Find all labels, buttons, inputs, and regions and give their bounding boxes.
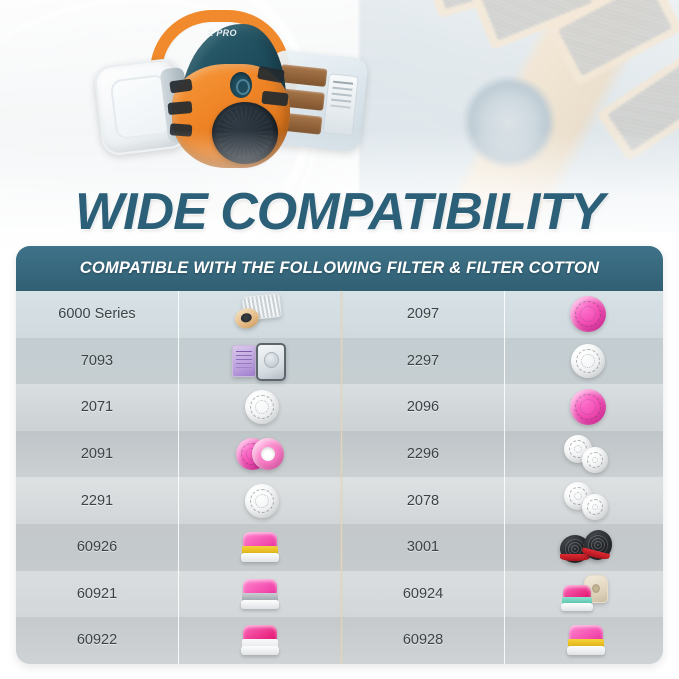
icon-pink-disc-pair [232, 434, 288, 474]
icon-white-disc-pair [558, 481, 614, 521]
cell-right-image [505, 477, 663, 524]
icon-white-disc-filter [232, 387, 288, 427]
table-body: 6000 Series20977093229720712096209122962… [16, 291, 663, 664]
icon-pink-cartridge-with-tag [558, 574, 614, 614]
compatibility-table: COMPATIBLE WITH THE FOLLOWING FILTER & F… [16, 246, 663, 664]
cell-left-label: 2091 [16, 446, 178, 462]
table-header-text: COMPATIBLE WITH THE FOLLOWING FILTER & F… [80, 259, 599, 278]
icon-pink-disc-filter [558, 387, 614, 427]
cell-right-image [505, 384, 663, 431]
table-row: 20712096 [16, 384, 663, 431]
brand-logo-text: X PRO [72, 28, 372, 38]
cell-right-image [505, 571, 663, 618]
infographic-page: X PRO WIDE COMPATIBILITY COMPATIBLE WITH… [0, 0, 679, 679]
cell-left-image [179, 571, 341, 618]
cell-right-image [505, 524, 663, 571]
cell-right-label: 2296 [342, 446, 504, 462]
cell-left-label: 6000 Series [16, 306, 178, 322]
cell-left-label: 60926 [16, 539, 178, 555]
table-row: 6000 Series2097 [16, 291, 663, 338]
cell-right-image [505, 338, 663, 385]
page-title: WIDE COMPATIBILITY [0, 182, 679, 242]
table-row: 6092260928 [16, 617, 663, 664]
icon-pink-yellow-cartridge [558, 620, 614, 660]
cell-left-label: 2071 [16, 399, 178, 415]
cell-left-image [179, 617, 341, 664]
table-row: 20912296 [16, 431, 663, 478]
icon-black-red-round-cartridge-pair [558, 527, 614, 567]
cell-right-image [505, 617, 663, 664]
cell-left-image [179, 338, 341, 385]
icon-pink-white-cartridge [232, 620, 288, 660]
icon-pink-gray-cartridge [232, 574, 288, 614]
cell-right-image [505, 431, 663, 478]
cell-right-label: 60928 [342, 632, 504, 648]
table-row: 6092160924 [16, 571, 663, 618]
mask-vent-bar [168, 101, 193, 115]
cell-right-label: 3001 [342, 539, 504, 555]
cell-left-image [179, 477, 341, 524]
cell-left-image [179, 431, 341, 478]
cell-right-label: 2078 [342, 493, 504, 509]
table-row: 609263001 [16, 524, 663, 571]
icon-purple-box-and-cassette [232, 341, 288, 381]
cell-right-label: 2096 [342, 399, 504, 415]
table-header-bar: COMPATIBLE WITH THE FOLLOWING FILTER & F… [16, 246, 663, 291]
mask-vent-bar [261, 91, 288, 107]
icon-beige-striped-cartridge [232, 294, 288, 334]
cell-right-label: 2297 [342, 353, 504, 369]
icon-white-disc-pair [558, 434, 614, 474]
icon-pink-yellow-cartridge [232, 527, 288, 567]
cell-right-label: 60924 [342, 586, 504, 602]
mask-exhale-valve [230, 72, 252, 98]
cell-left-image [179, 524, 341, 571]
cell-right-label: 2097 [342, 306, 504, 322]
cell-left-label: 60922 [16, 632, 178, 648]
cell-left-label: 2291 [16, 493, 178, 509]
cell-right-image [505, 291, 663, 338]
cell-left-image [179, 291, 341, 338]
icon-white-disc-filter [558, 341, 614, 381]
cell-left-label: 7093 [16, 353, 178, 369]
table-row: 70932297 [16, 338, 663, 385]
table-row: 22912078 [16, 477, 663, 524]
icon-white-disc-filter [232, 481, 288, 521]
icon-pink-disc-filter [558, 294, 614, 334]
cell-left-label: 60921 [16, 586, 178, 602]
cell-left-image [179, 384, 341, 431]
